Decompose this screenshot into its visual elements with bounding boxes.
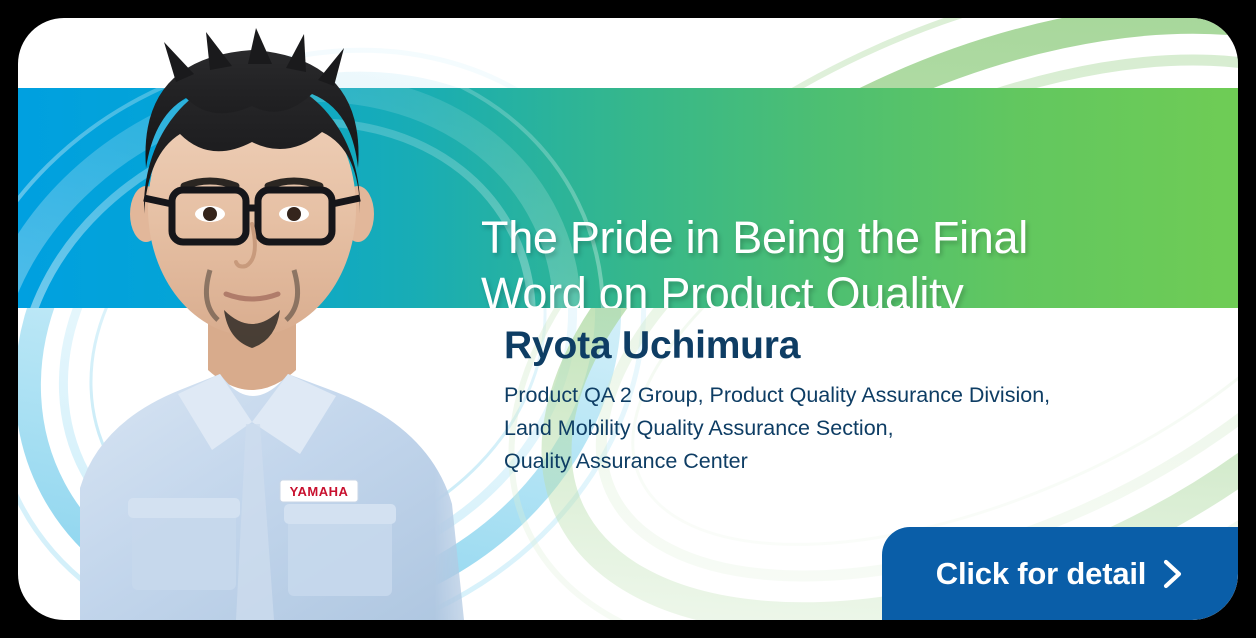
promo-card: The Pride in Being the Final Word on Pro… (18, 18, 1238, 620)
portrait-photo: YAMAHA (60, 18, 540, 620)
chevron-right-icon (1162, 558, 1184, 590)
svg-text:YAMAHA: YAMAHA (290, 484, 349, 499)
person-affiliation: Product QA 2 Group, Product Quality Assu… (504, 379, 1224, 479)
click-for-detail-button[interactable]: Click for detail (882, 527, 1238, 620)
page-title: The Pride in Being the Final Word on Pro… (481, 210, 1181, 308)
person-info: Ryota Uchimura Product QA 2 Group, Produ… (504, 324, 1224, 479)
portrait-illustration: YAMAHA (60, 18, 540, 620)
yamaha-logo-patch: YAMAHA (280, 480, 358, 502)
cta-label: Click for detail (936, 556, 1146, 592)
person-name: Ryota Uchimura (504, 324, 1224, 369)
